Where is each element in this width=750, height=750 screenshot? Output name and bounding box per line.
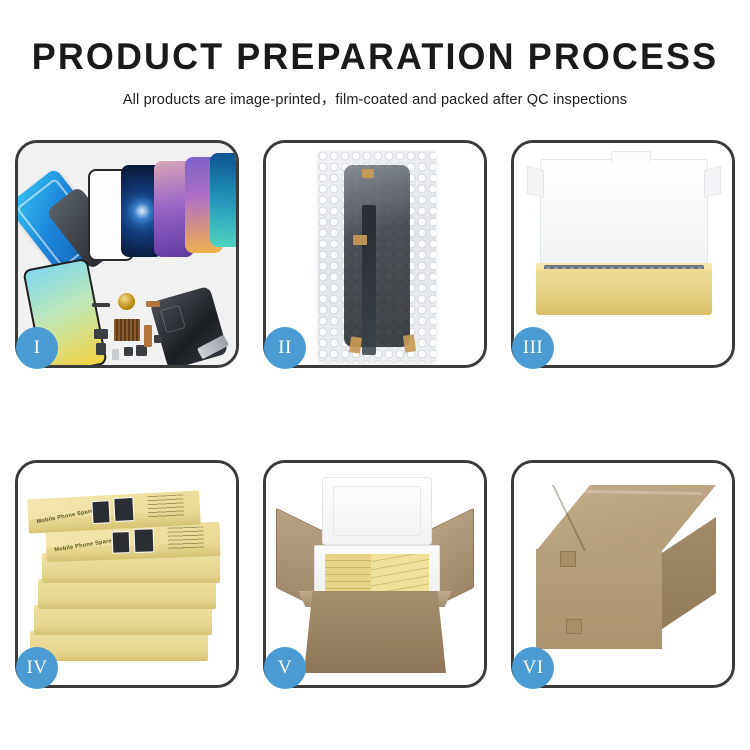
copper-connector-part: [146, 301, 160, 307]
wrapped-phone-part: [344, 165, 410, 347]
sim-tray-part: [112, 349, 119, 360]
flex-strip-part: [92, 303, 110, 307]
tape-strip-middle: [353, 235, 367, 245]
stacked-box-bottom-2: [34, 605, 212, 635]
tape-strip-bottom-right: [403, 334, 416, 352]
box-screen-image-1b: [113, 497, 134, 522]
box-screen-image-1a: [91, 500, 110, 524]
tape-strip-top: [362, 169, 374, 178]
box-screen-image-2a: [112, 531, 131, 554]
step-card-1: I: [15, 140, 239, 368]
page-header: PRODUCT PREPARATION PROCESS All products…: [0, 0, 750, 109]
process-step-grid: I II III: [0, 140, 750, 688]
carton-front-face: [536, 549, 662, 649]
lid-tab: [611, 151, 651, 162]
box-spec-text-1: [147, 494, 184, 518]
white-foam-lid: [540, 159, 708, 279]
lid-ear-right: [704, 166, 721, 198]
page-subtitle: All products are image-printed，film-coat…: [0, 88, 750, 109]
carton-tape-lower: [566, 619, 582, 634]
step-card-6: VI: [511, 460, 735, 688]
teal-gradient-phone: [210, 153, 236, 247]
step-badge-5: V: [264, 647, 306, 689]
step-badge-1: I: [16, 327, 58, 369]
box-stack: Mobile Phone Spare Parts Mobile Phone Sp…: [26, 481, 232, 675]
flex-cable-part: [144, 325, 152, 347]
step-badge-4: IV: [16, 647, 58, 689]
carton-body: [304, 591, 446, 673]
chip-array-part: [114, 319, 140, 341]
camera-module-part: [94, 329, 108, 339]
wrapped-flex-cable: [362, 205, 376, 355]
step-badge-2: II: [264, 327, 306, 369]
stacked-box-bottom-3: [38, 579, 216, 609]
step-badge-3: III: [512, 327, 554, 369]
box-screen-image-2b: [134, 528, 155, 553]
packed-yellow-boxes-angled: [371, 554, 429, 596]
step-badge-6: VI: [512, 647, 554, 689]
gold-coil-part: [118, 293, 135, 310]
box-spec-text-2: [168, 527, 205, 550]
styrofoam-lid: [322, 477, 432, 545]
sensor-part: [154, 335, 162, 343]
tape-strip-bottom-left: [349, 336, 362, 353]
step-card-2: II: [263, 140, 487, 368]
yellow-kraft-box-body: [536, 269, 712, 315]
step-card-5: V: [263, 460, 487, 688]
speaker-part: [96, 343, 106, 355]
lid-ear-left: [527, 166, 544, 198]
bubble-wrap-sleeve: [318, 151, 436, 363]
carton-tape-upper: [560, 551, 576, 567]
step-card-3: III: [511, 140, 735, 368]
small-spare-parts-cluster: [92, 291, 172, 365]
button-part: [124, 347, 133, 356]
page-title: PRODUCT PREPARATION PROCESS: [11, 38, 739, 77]
stacked-box-bottom-1: [30, 631, 208, 661]
step-card-4: Mobile Phone Spare Parts Mobile Phone Sp…: [15, 460, 239, 688]
